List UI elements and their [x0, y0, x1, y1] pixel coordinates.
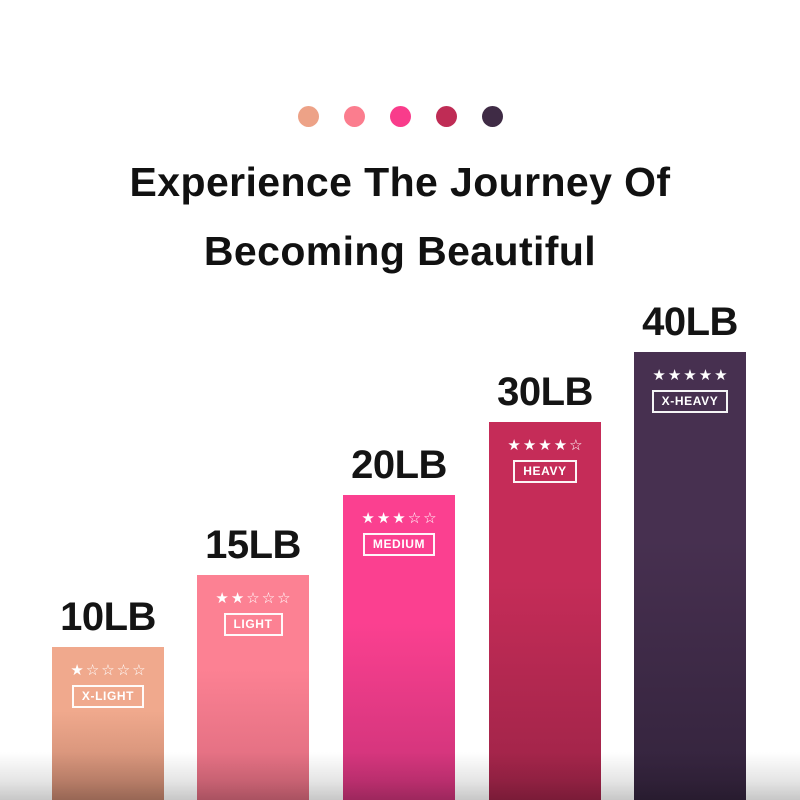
resistance-level-tag: X-HEAVY — [652, 390, 729, 413]
star-filled-icon: ★ — [668, 368, 681, 383]
bar-value-label: 40LB — [642, 300, 738, 345]
star-empty-icon: ☆ — [132, 663, 145, 678]
star-filled-icon: ★ — [215, 591, 228, 606]
resistance-level-tag: MEDIUM — [363, 533, 435, 556]
star-filled-icon: ★ — [554, 438, 567, 453]
star-empty-icon: ☆ — [423, 511, 436, 526]
star-rating: ★★★★☆ — [507, 438, 582, 453]
star-empty-icon: ☆ — [262, 591, 275, 606]
resistance-level-tag: HEAVY — [513, 460, 576, 483]
star-filled-icon: ★ — [361, 511, 374, 526]
star-empty-icon: ☆ — [277, 591, 290, 606]
bar-group-medium[interactable]: 20LB★★★☆☆MEDIUM — [343, 495, 455, 800]
star-filled-icon: ★ — [652, 368, 665, 383]
star-filled-icon: ★ — [699, 368, 712, 383]
star-filled-icon: ★ — [70, 663, 83, 678]
bar-content: ★☆☆☆☆X-LIGHT — [52, 663, 164, 708]
product-poster: Experience The Journey Of Becoming Beaut… — [0, 0, 800, 800]
star-empty-icon: ☆ — [101, 663, 114, 678]
star-empty-icon: ☆ — [246, 591, 259, 606]
bar-content: ★★★★☆HEAVY — [489, 438, 601, 483]
star-filled-icon: ★ — [392, 511, 405, 526]
bar-value-label: 10LB — [60, 595, 156, 640]
star-filled-icon: ★ — [523, 438, 536, 453]
bar-value-label: 20LB — [351, 443, 447, 488]
resistance-level-tag: X-LIGHT — [72, 685, 144, 708]
star-filled-icon: ★ — [231, 591, 244, 606]
star-empty-icon: ☆ — [117, 663, 130, 678]
bar-body: ★★★★☆HEAVY — [489, 422, 601, 800]
star-filled-icon: ★ — [683, 368, 696, 383]
resistance-bar-chart: 10LB★☆☆☆☆X-LIGHT15LB★★☆☆☆LIGHT20LB★★★☆☆M… — [0, 0, 800, 800]
bar-body: ★★☆☆☆LIGHT — [197, 575, 309, 800]
star-filled-icon: ★ — [714, 368, 727, 383]
bar-content: ★★★☆☆MEDIUM — [343, 511, 455, 556]
star-rating: ★★★★★ — [652, 368, 727, 383]
star-empty-icon: ☆ — [408, 511, 421, 526]
star-rating: ★☆☆☆☆ — [70, 663, 145, 678]
bar-body: ★★★★★X-HEAVY — [634, 352, 746, 800]
star-rating: ★★★☆☆ — [361, 511, 436, 526]
star-filled-icon: ★ — [507, 438, 520, 453]
bar-group-x-heavy[interactable]: 40LB★★★★★X-HEAVY — [634, 352, 746, 800]
star-rating: ★★☆☆☆ — [215, 591, 290, 606]
star-empty-icon: ☆ — [86, 663, 99, 678]
resistance-level-tag: LIGHT — [224, 613, 283, 636]
bar-content: ★★★★★X-HEAVY — [634, 368, 746, 413]
bar-body: ★★★☆☆MEDIUM — [343, 495, 455, 800]
bar-group-light[interactable]: 15LB★★☆☆☆LIGHT — [197, 575, 309, 800]
bar-group-x-light[interactable]: 10LB★☆☆☆☆X-LIGHT — [52, 647, 164, 800]
bar-group-heavy[interactable]: 30LB★★★★☆HEAVY — [489, 422, 601, 800]
bar-value-label: 30LB — [497, 370, 593, 415]
star-filled-icon: ★ — [377, 511, 390, 526]
bar-content: ★★☆☆☆LIGHT — [197, 591, 309, 636]
bar-value-label: 15LB — [205, 523, 301, 568]
bar-fill — [634, 352, 746, 800]
bar-body: ★☆☆☆☆X-LIGHT — [52, 647, 164, 800]
star-filled-icon: ★ — [538, 438, 551, 453]
star-empty-icon: ☆ — [569, 438, 582, 453]
